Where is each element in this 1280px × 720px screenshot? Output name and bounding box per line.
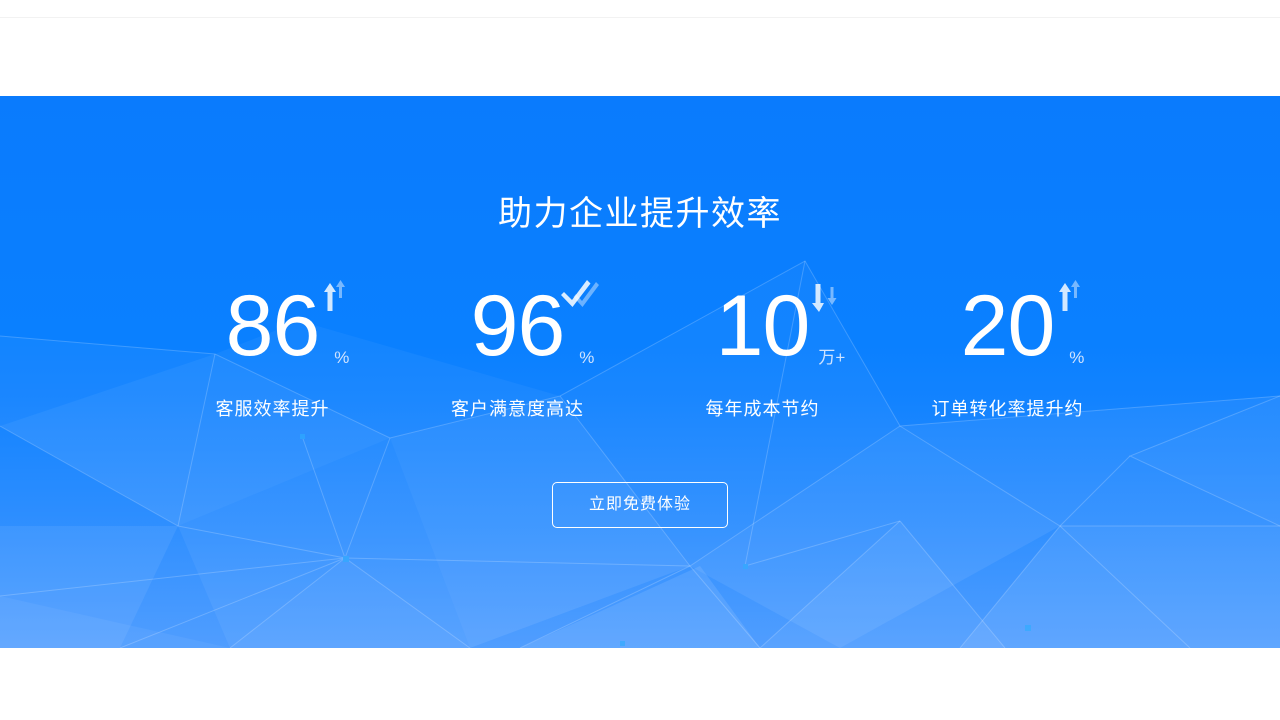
stat-item-order-conversion: 20 % 订单转化率提升约 xyxy=(885,278,1130,422)
stat-label: 订单转化率提升约 xyxy=(885,396,1130,422)
stat-item-customer-satisfaction: 96 % 客户满意度高达 xyxy=(395,278,640,422)
cta-container: 立即免费体验 xyxy=(0,482,1280,528)
hero-banner: 助力企业提升效率 86 % 客服效率提升 96 xyxy=(0,96,1280,648)
double-arrow-down-icon xyxy=(803,274,847,318)
stat-figure: 96 % xyxy=(471,278,565,374)
stat-value: 20 xyxy=(961,278,1055,374)
stat-label: 客服效率提升 xyxy=(150,396,395,422)
page-footer-area xyxy=(0,648,1280,720)
stat-label: 每年成本节约 xyxy=(640,396,885,422)
stat-unit: % xyxy=(334,349,349,367)
stat-value: 10 xyxy=(716,278,810,374)
stat-figure: 10 万+ xyxy=(716,278,810,374)
stat-value: 86 xyxy=(226,278,320,374)
page-title: 助力企业提升效率 xyxy=(0,192,1280,236)
stats-row: 86 % 客服效率提升 96 % xyxy=(150,278,1130,422)
page-header-area xyxy=(0,0,1280,96)
stat-value: 96 xyxy=(471,278,565,374)
stat-item-cost-saving: 10 万+ 每年成本节约 xyxy=(640,278,885,422)
stat-item-service-efficiency: 86 % 客服效率提升 xyxy=(150,278,395,422)
free-trial-button[interactable]: 立即免费体验 xyxy=(552,482,728,528)
stat-label: 客户满意度高达 xyxy=(395,396,640,422)
stat-unit: % xyxy=(1069,349,1084,367)
stat-figure: 86 % xyxy=(226,278,320,374)
stat-unit: % xyxy=(579,349,594,367)
stat-figure: 20 % xyxy=(961,278,1055,374)
double-arrow-up-icon xyxy=(1048,274,1092,318)
double-check-icon xyxy=(558,274,602,318)
double-arrow-up-icon xyxy=(313,274,357,318)
header-divider xyxy=(0,17,1280,18)
stat-unit: 万+ xyxy=(818,349,845,367)
